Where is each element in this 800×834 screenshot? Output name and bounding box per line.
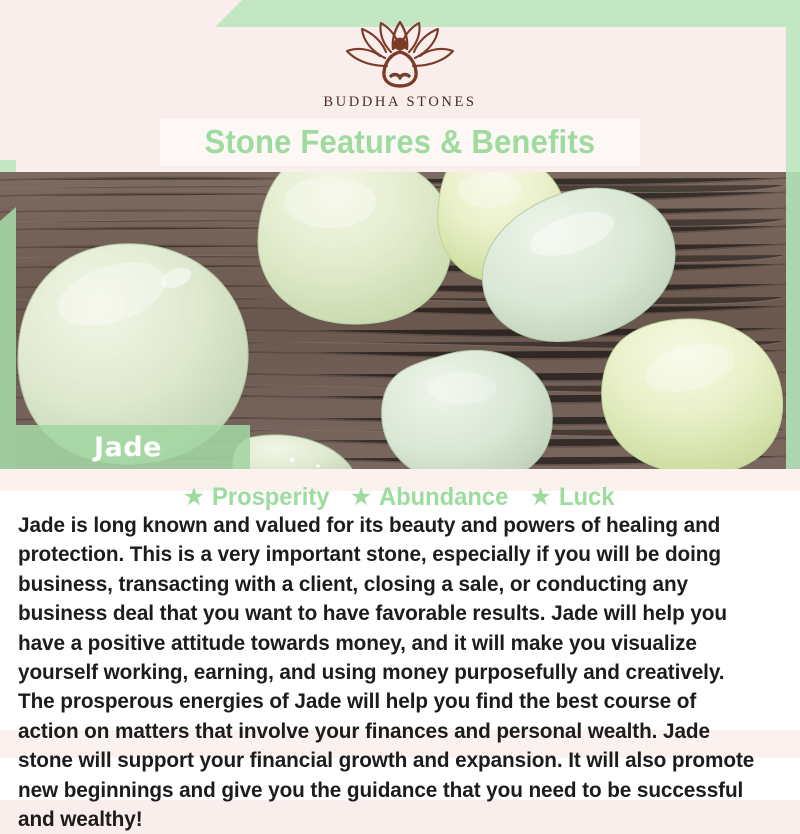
- benefits-row: ★ Prosperity ★ Abundance ★ Luck: [0, 480, 800, 514]
- star-icon: ★: [529, 485, 551, 510]
- page-title: Stone Features & Benefits: [205, 123, 596, 161]
- section-title-banner: Stone Features & Benefits: [160, 118, 640, 166]
- benefit-item-prosperity: ★ Prosperity: [183, 483, 336, 512]
- benefit-item-abundance: ★ Abundance: [350, 483, 516, 512]
- stone-name-tag: Jade: [16, 425, 250, 469]
- benefit-label: Prosperity: [212, 483, 329, 512]
- lotus-meditation-icon: [325, 18, 475, 92]
- star-icon: ★: [350, 485, 372, 510]
- benefit-item-luck: ★ Luck: [529, 483, 617, 512]
- stone-description: Jade is long known and valued for its be…: [18, 511, 759, 834]
- brand-name: BUDDHA STONES: [323, 94, 476, 111]
- brand-logo: BUDDHA STONES: [0, 18, 800, 118]
- benefit-label: Abundance: [379, 483, 508, 512]
- photo-left-green-strip: [0, 207, 16, 469]
- photo-right-green-strip: [786, 172, 800, 469]
- benefit-label: Luck: [559, 483, 614, 512]
- stone-name-label: Jade: [94, 432, 162, 463]
- star-icon: ★: [183, 485, 205, 510]
